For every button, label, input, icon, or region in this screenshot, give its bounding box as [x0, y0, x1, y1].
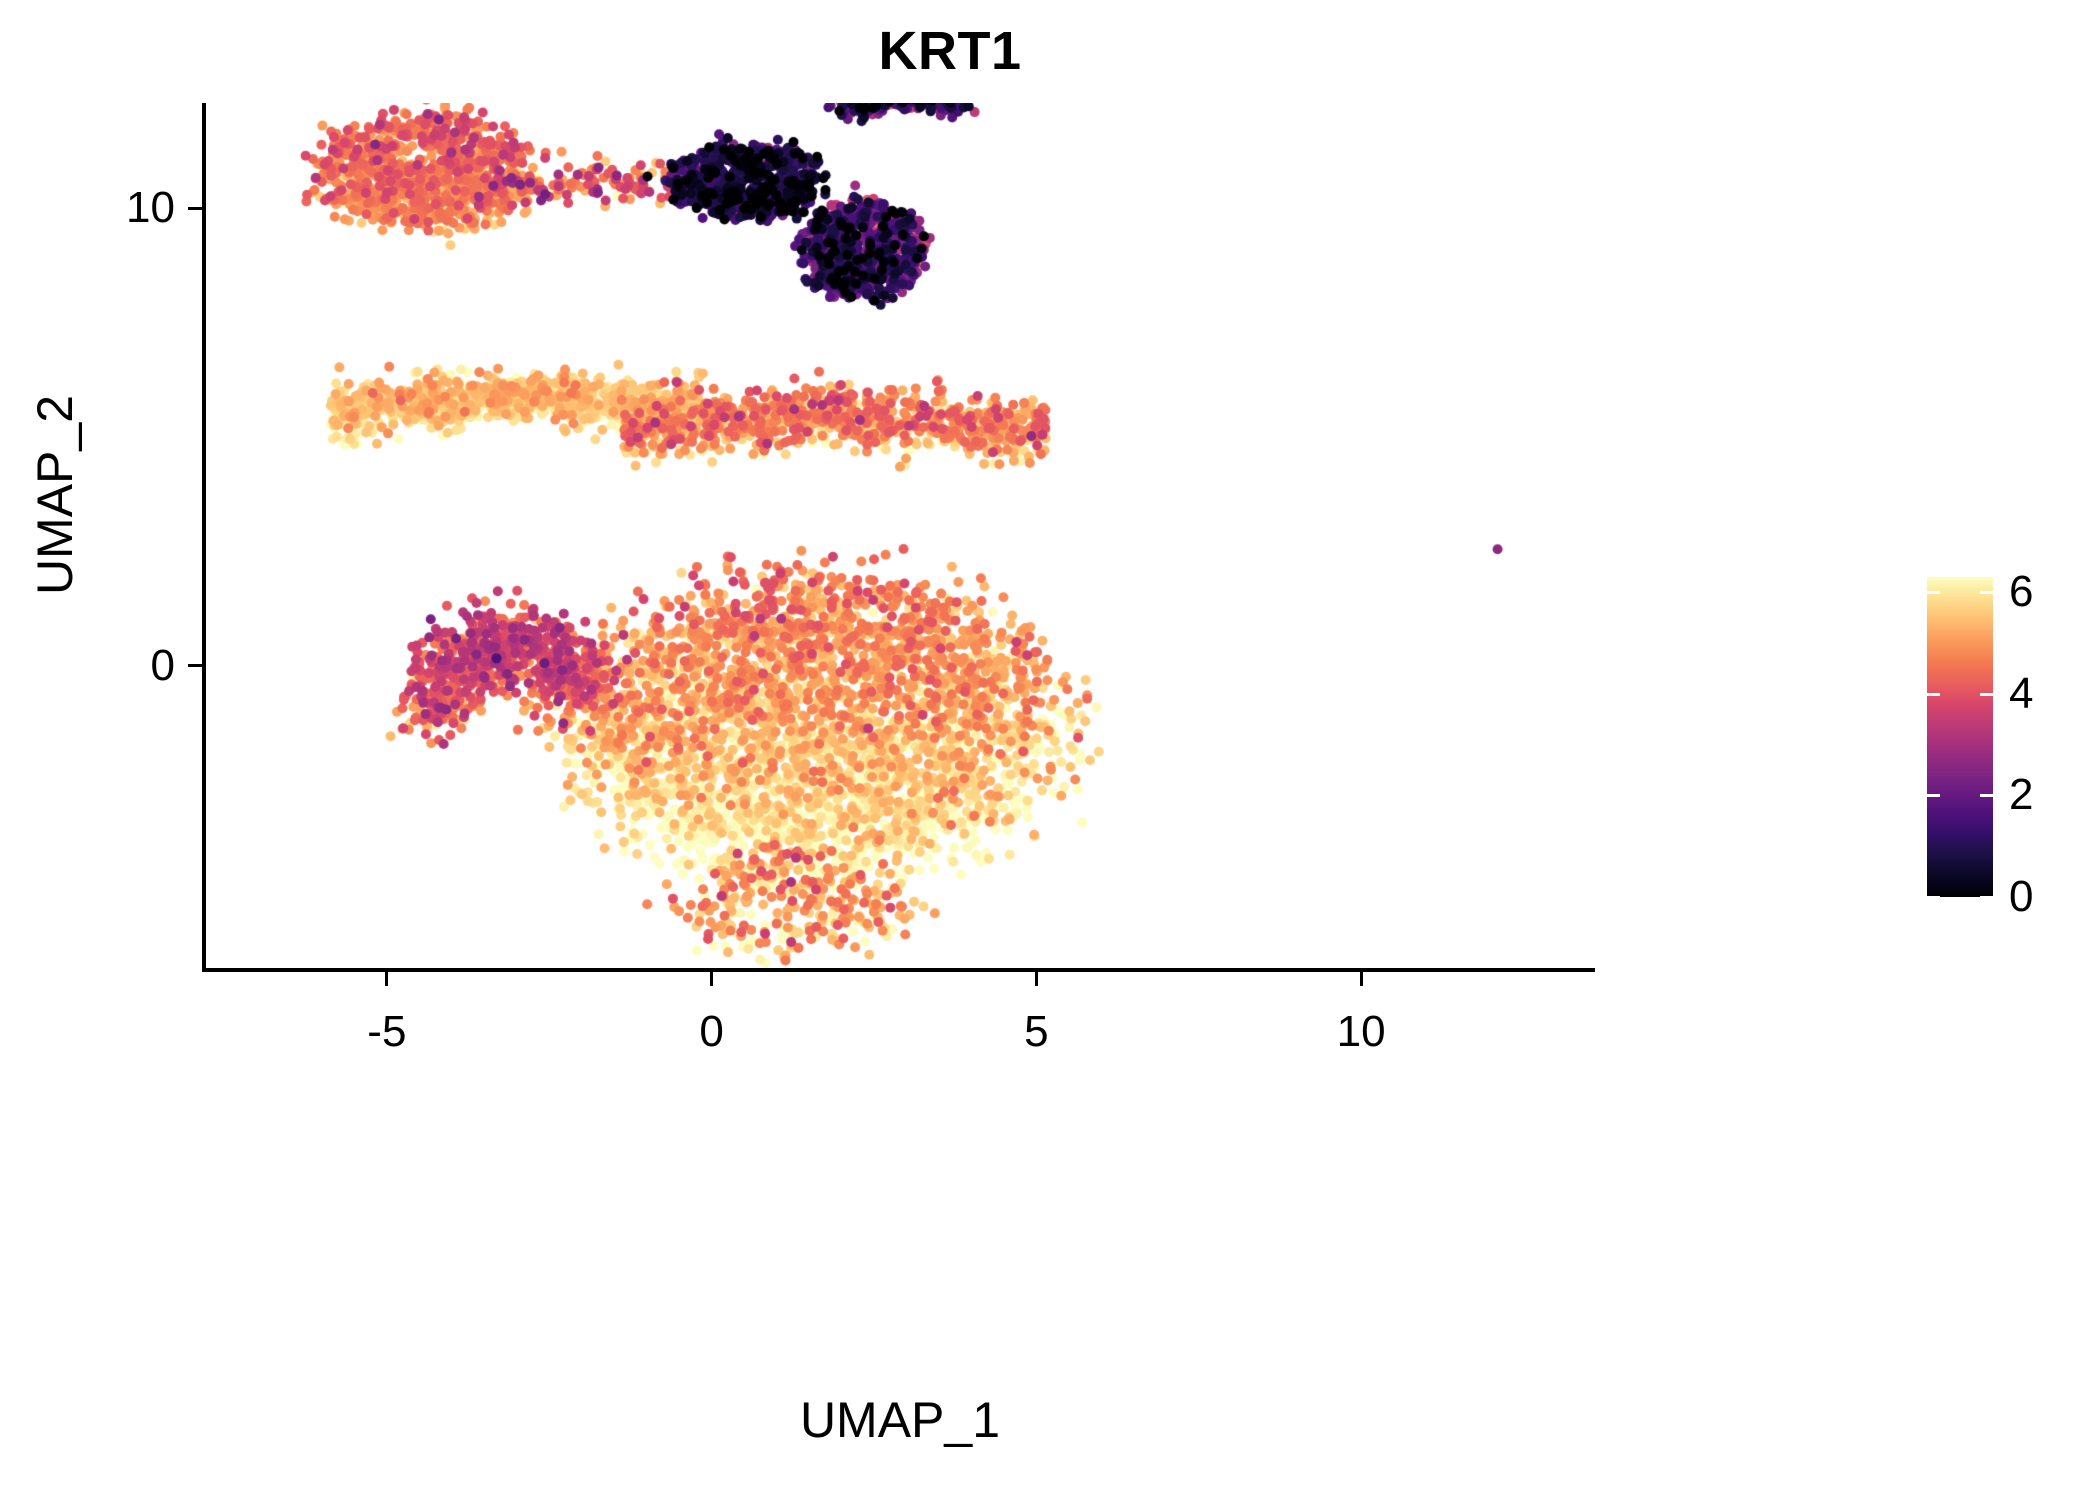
y-axis-label: UMAP_2 [27, 395, 83, 595]
color-legend [1927, 577, 1993, 897]
x-tick-mark [1035, 972, 1038, 986]
y-axis-line [202, 103, 206, 972]
y-axis-label-wrapper: UMAP_2 [30, 55, 80, 935]
x-tick-label: -5 [287, 1010, 487, 1054]
color-legend-tick-mark [1980, 591, 1993, 594]
color-legend-tick-mark [1927, 591, 1940, 594]
y-tick-mark [188, 664, 202, 667]
x-tick-label: 5 [936, 1010, 1136, 1054]
color-legend-tick-mark [1980, 794, 1993, 797]
umap-feature-plot: KRT1 010 -50510 UMAP_1 UMAP_2 0246 [0, 0, 2100, 1500]
x-tick-mark [1360, 972, 1363, 986]
scatter-points-canvas [205, 103, 1595, 968]
color-legend-tick-mark [1980, 896, 1993, 899]
x-tick-mark [710, 972, 713, 986]
x-axis-line [202, 968, 1595, 972]
color-legend-gradient [1927, 577, 1993, 897]
x-tick-label: 10 [1261, 1010, 1461, 1054]
color-legend-tick-mark [1927, 794, 1940, 797]
x-tick-label: 0 [612, 1010, 812, 1054]
color-legend-tick-label: 4 [2009, 672, 2033, 716]
color-legend-tick-mark [1980, 693, 1993, 696]
x-tick-mark [385, 972, 388, 986]
color-legend-tick-label: 2 [2009, 773, 2033, 817]
y-tick-mark [188, 207, 202, 210]
color-legend-tick-mark [1927, 896, 1940, 899]
color-legend-tick-mark [1927, 693, 1940, 696]
page-title: KRT1 [0, 22, 1900, 81]
color-legend-tick-label: 0 [2009, 875, 2033, 919]
plot-panel [205, 103, 1595, 968]
color-legend-tick-label: 6 [2009, 570, 2033, 614]
x-axis-label: UMAP_1 [205, 1395, 1595, 1445]
